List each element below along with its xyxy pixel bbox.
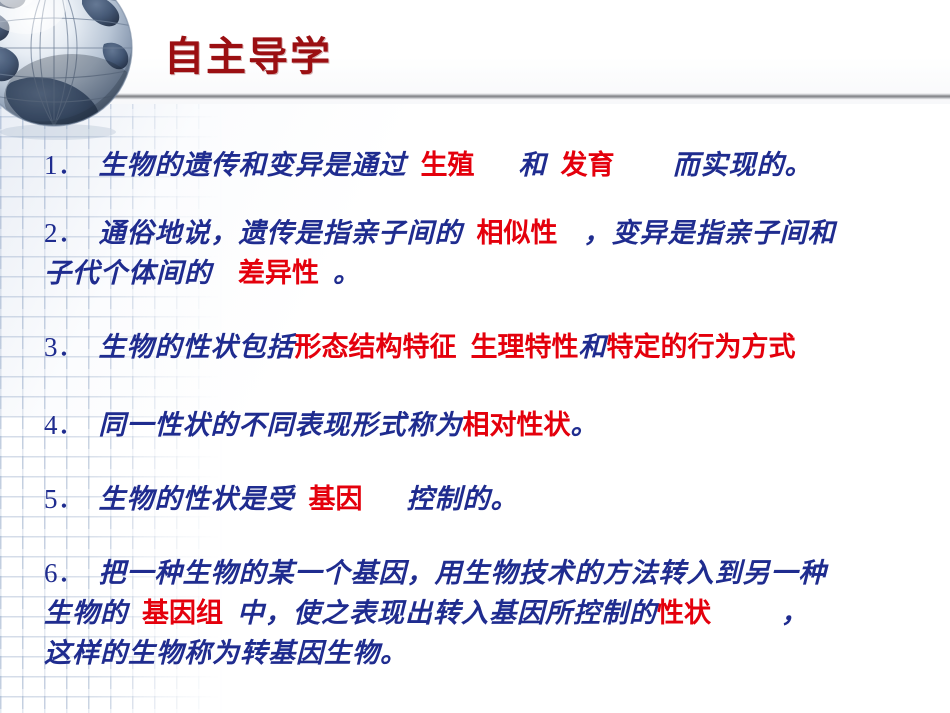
question-item-3: 3．生物的性状包括形态结构特征生理特性和特定的行为方式 [44, 330, 796, 364]
answer-blank-trait: 性状 [657, 598, 711, 628]
question-number: 6． [44, 558, 85, 588]
question-item-4: 4．同一性状的不同表现形式称为相对性状。 [44, 408, 599, 442]
question-text: ，变异是指亲子间和 [584, 218, 836, 248]
question-item-2: 2．通俗地说，遗传是指亲子间的相似性，变异是指亲子间和 [44, 216, 836, 250]
question-item-6: 6．把一种生物的某一个基因，用生物技术的方法转入到另一种 [44, 556, 827, 590]
question-text: 。 [333, 258, 361, 288]
question-item-1: 1．生物的遗传和变异是通过生殖和发育而实现的。 [44, 148, 813, 182]
question-text: 这样的生物称为转基因生物。 [44, 638, 408, 668]
answer-blank-gene: 基因 [309, 484, 363, 514]
answer-blank-behavior: 特定的行为方式 [607, 332, 796, 362]
question-number: 2． [44, 218, 85, 248]
question-item-5: 5．生物的性状是受基因控制的。 [44, 482, 519, 516]
question-text: 而实现的。 [673, 150, 813, 180]
question-number: 3． [44, 332, 85, 362]
question-number: 1． [44, 150, 85, 180]
question-text: 控制的。 [407, 484, 519, 514]
question-text: 生物的 [44, 598, 128, 628]
question-text: 同一性状的不同表现形式称为 [99, 410, 463, 440]
answer-blank-genome: 基因组 [142, 598, 223, 628]
slide-header [0, 0, 950, 104]
question-text: ， [781, 598, 809, 628]
answer-blank-similarity: 相似性 [477, 218, 558, 248]
question-text: 生物的性状包括 [99, 332, 295, 362]
question-text: 把一种生物的某一个基因，用生物技术的方法转入到另一种 [99, 558, 827, 588]
question-text: 中，使之表现出转入基因所控制的 [237, 598, 657, 628]
question-item-2-continued: 子代个体间的差异性。 [44, 256, 361, 290]
question-text: 生物的性状是受 [99, 484, 295, 514]
answer-blank-physiology: 生理特性 [471, 332, 579, 362]
slide-body: 1．生物的遗传和变异是通过生殖和发育而实现的。 2．通俗地说，遗传是指亲子间的相… [0, 104, 950, 713]
question-item-6-continued: 生物的基因组中，使之表现出转入基因所控制的性状， [44, 596, 809, 630]
question-text: 子代个体间的 [44, 258, 212, 288]
question-number: 5． [44, 484, 85, 514]
question-text: 。 [571, 410, 599, 440]
answer-blank-development: 发育 [561, 150, 615, 180]
answer-blank-reproduction: 生殖 [421, 150, 475, 180]
question-text: 通俗地说，遗传是指亲子间的 [99, 218, 463, 248]
slide-canvas: 自主导学 1．生物的遗传和变异是通过生殖和发育而实现的。 2．通俗地说，遗传是指… [0, 0, 950, 713]
answer-blank-difference: 差异性 [238, 258, 319, 288]
header-divider [0, 93, 950, 100]
question-text: 和 [519, 150, 547, 180]
answer-blank-morphology: 形态结构特征 [295, 332, 457, 362]
answer-blank-relative-trait: 相对性状 [463, 410, 571, 440]
question-number: 4． [44, 410, 85, 440]
question-item-6-continued-2: 这样的生物称为转基因生物。 [44, 636, 408, 670]
page-title: 自主导学 [164, 34, 332, 80]
question-text: 生物的遗传和变异是通过 [99, 150, 407, 180]
question-text: 和 [579, 332, 607, 362]
